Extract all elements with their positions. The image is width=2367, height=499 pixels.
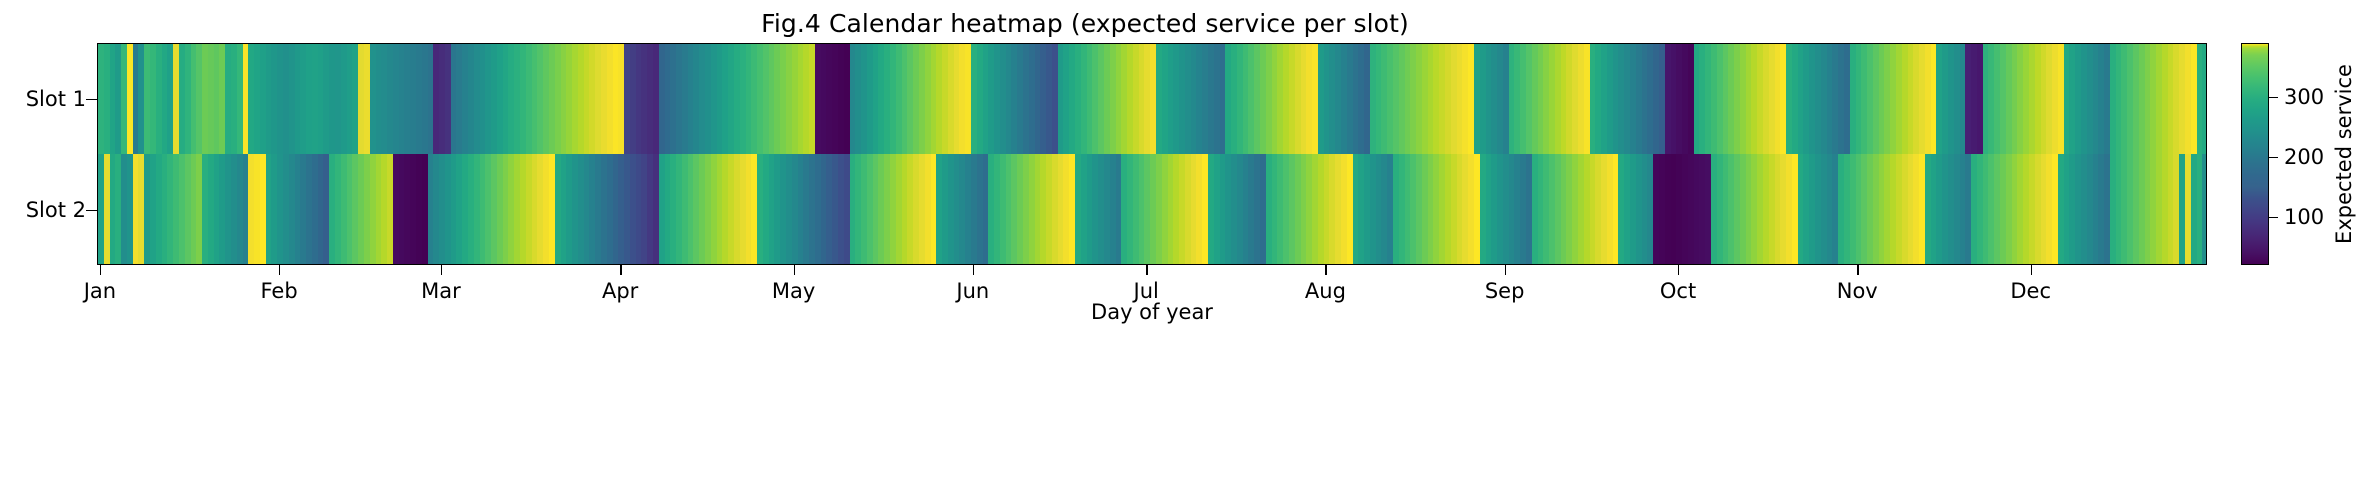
colorbar-tick-label: 300 <box>2284 85 2324 109</box>
colorbar-tick-mark <box>2269 157 2278 158</box>
heatmap-row <box>98 44 2206 154</box>
x-tick-mark <box>1505 265 1506 275</box>
colorbar-tick-label: 100 <box>2284 205 2324 229</box>
y-tick-mark <box>86 99 97 100</box>
heatmap-cell <box>2202 44 2206 154</box>
y-tick-label: Slot 1 <box>26 87 86 111</box>
x-tick-mark <box>100 265 101 275</box>
heatmap-rows <box>98 44 2206 264</box>
x-tick-mark <box>1857 265 1858 275</box>
heatmap-axes <box>97 43 2207 265</box>
heatmap-row <box>98 154 2206 264</box>
x-tick-mark <box>620 265 621 275</box>
x-tick-mark <box>279 265 280 275</box>
x-tick-mark <box>973 265 974 275</box>
y-tick-mark <box>86 210 97 211</box>
x-tick-mark <box>1325 265 1326 275</box>
colorbar <box>2241 43 2269 265</box>
colorbar-label: Expected service <box>2332 64 2356 244</box>
y-tick-label: Slot 2 <box>26 198 86 222</box>
colorbar-tick-label: 200 <box>2284 145 2324 169</box>
colorbar-tick-mark <box>2269 217 2278 218</box>
x-tick-mark <box>1678 265 1679 275</box>
x-tick-mark <box>1146 265 1147 275</box>
figure-canvas: Fig.4 Calendar heatmap (expected service… <box>0 0 2367 499</box>
colorbar-tick-mark <box>2269 97 2278 98</box>
x-tick-mark <box>441 265 442 275</box>
heatmap-cell <box>2202 154 2206 264</box>
x-tick-mark <box>2031 265 2032 275</box>
x-tick-mark <box>794 265 795 275</box>
x-axis-label: Day of year <box>97 300 2207 324</box>
page-title: Fig.4 Calendar heatmap (expected service… <box>0 9 2170 38</box>
